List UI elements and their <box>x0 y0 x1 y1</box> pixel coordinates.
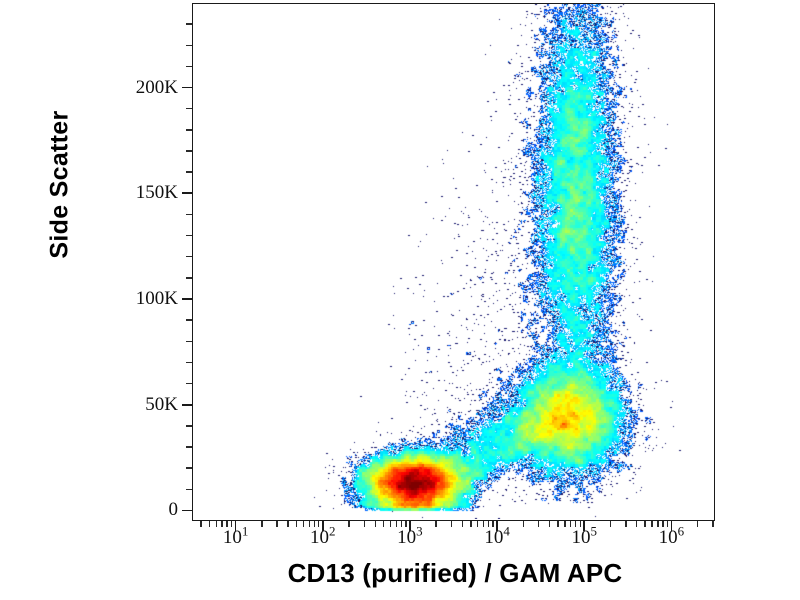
x-tick-major <box>496 521 498 531</box>
y-tick-major <box>182 298 192 300</box>
x-tick-minor <box>287 521 288 527</box>
x-tick-minor <box>348 521 349 527</box>
x-tick-minor <box>451 521 452 527</box>
x-tick-minor <box>557 521 558 527</box>
x-tick-minor <box>610 521 611 527</box>
x-tick-minor <box>667 521 668 527</box>
x-tick-minor <box>314 521 315 527</box>
x-tick-minor <box>261 521 262 527</box>
x-tick-major <box>671 521 673 531</box>
x-tick-minor <box>375 521 376 527</box>
y-tick-major <box>182 404 192 406</box>
x-tick-minor <box>364 521 365 527</box>
x-tick-minor <box>383 521 384 527</box>
y-tick-label: 150K <box>100 182 178 204</box>
x-tick-minor <box>200 521 201 527</box>
x-tick-minor <box>477 521 478 527</box>
x-tick-minor <box>231 521 232 527</box>
x-tick-minor <box>662 521 663 527</box>
x-tick-minor <box>216 521 217 527</box>
x-tick-minor <box>697 521 698 527</box>
x-tick-minor <box>390 521 391 527</box>
x-tick-minor <box>303 521 304 527</box>
y-tick-label: 100K <box>100 288 178 310</box>
x-tick-minor <box>318 521 319 527</box>
x-tick-minor <box>580 521 581 527</box>
x-tick-minor <box>470 521 471 527</box>
x-tick-minor <box>523 521 524 527</box>
x-tick-minor <box>488 521 489 527</box>
x-tick-minor <box>396 521 397 527</box>
x-tick-minor <box>625 521 626 527</box>
x-tick-minor <box>209 521 210 527</box>
x-tick-minor <box>226 521 227 527</box>
x-tick-minor <box>296 521 297 527</box>
x-tick-major <box>235 521 237 531</box>
x-tick-minor <box>492 521 493 527</box>
plot-area <box>192 3 715 521</box>
x-tick-minor <box>644 521 645 527</box>
x-tick-minor <box>575 521 576 527</box>
x-tick-minor <box>651 521 652 527</box>
x-tick-minor <box>636 521 637 527</box>
x-tick-minor <box>462 521 463 527</box>
x-tick-minor <box>538 521 539 527</box>
x-tick-minor <box>435 521 436 527</box>
x-tick-minor <box>564 521 565 527</box>
y-tick-major <box>182 192 192 194</box>
x-axis-title: CD13 (purified) / GAM APC <box>150 558 760 589</box>
y-tick-label: 200K <box>100 77 178 99</box>
y-axis-title: Side Scatter <box>46 95 75 275</box>
x-tick-minor <box>309 521 310 527</box>
y-tick-major <box>182 87 192 89</box>
x-tick-minor <box>401 521 402 527</box>
x-tick-major <box>409 521 411 531</box>
x-tick-minor <box>221 521 222 527</box>
x-tick-minor <box>276 521 277 527</box>
y-tick-label: 50K <box>100 394 178 416</box>
x-tick-minor <box>405 521 406 527</box>
x-tick-major <box>322 521 324 531</box>
y-tick-label: 0 <box>100 499 178 521</box>
x-tick-major <box>583 521 585 531</box>
scatter-density-canvas <box>193 4 713 519</box>
x-tick-minor <box>712 521 713 527</box>
x-tick-minor <box>657 521 658 527</box>
y-tick-major <box>182 510 192 512</box>
x-tick-minor <box>570 521 571 527</box>
flow-cytometry-figure: Side Scatter 050K100K150K200K 1011021031… <box>0 0 800 600</box>
x-tick-minor <box>549 521 550 527</box>
x-tick-minor <box>483 521 484 527</box>
